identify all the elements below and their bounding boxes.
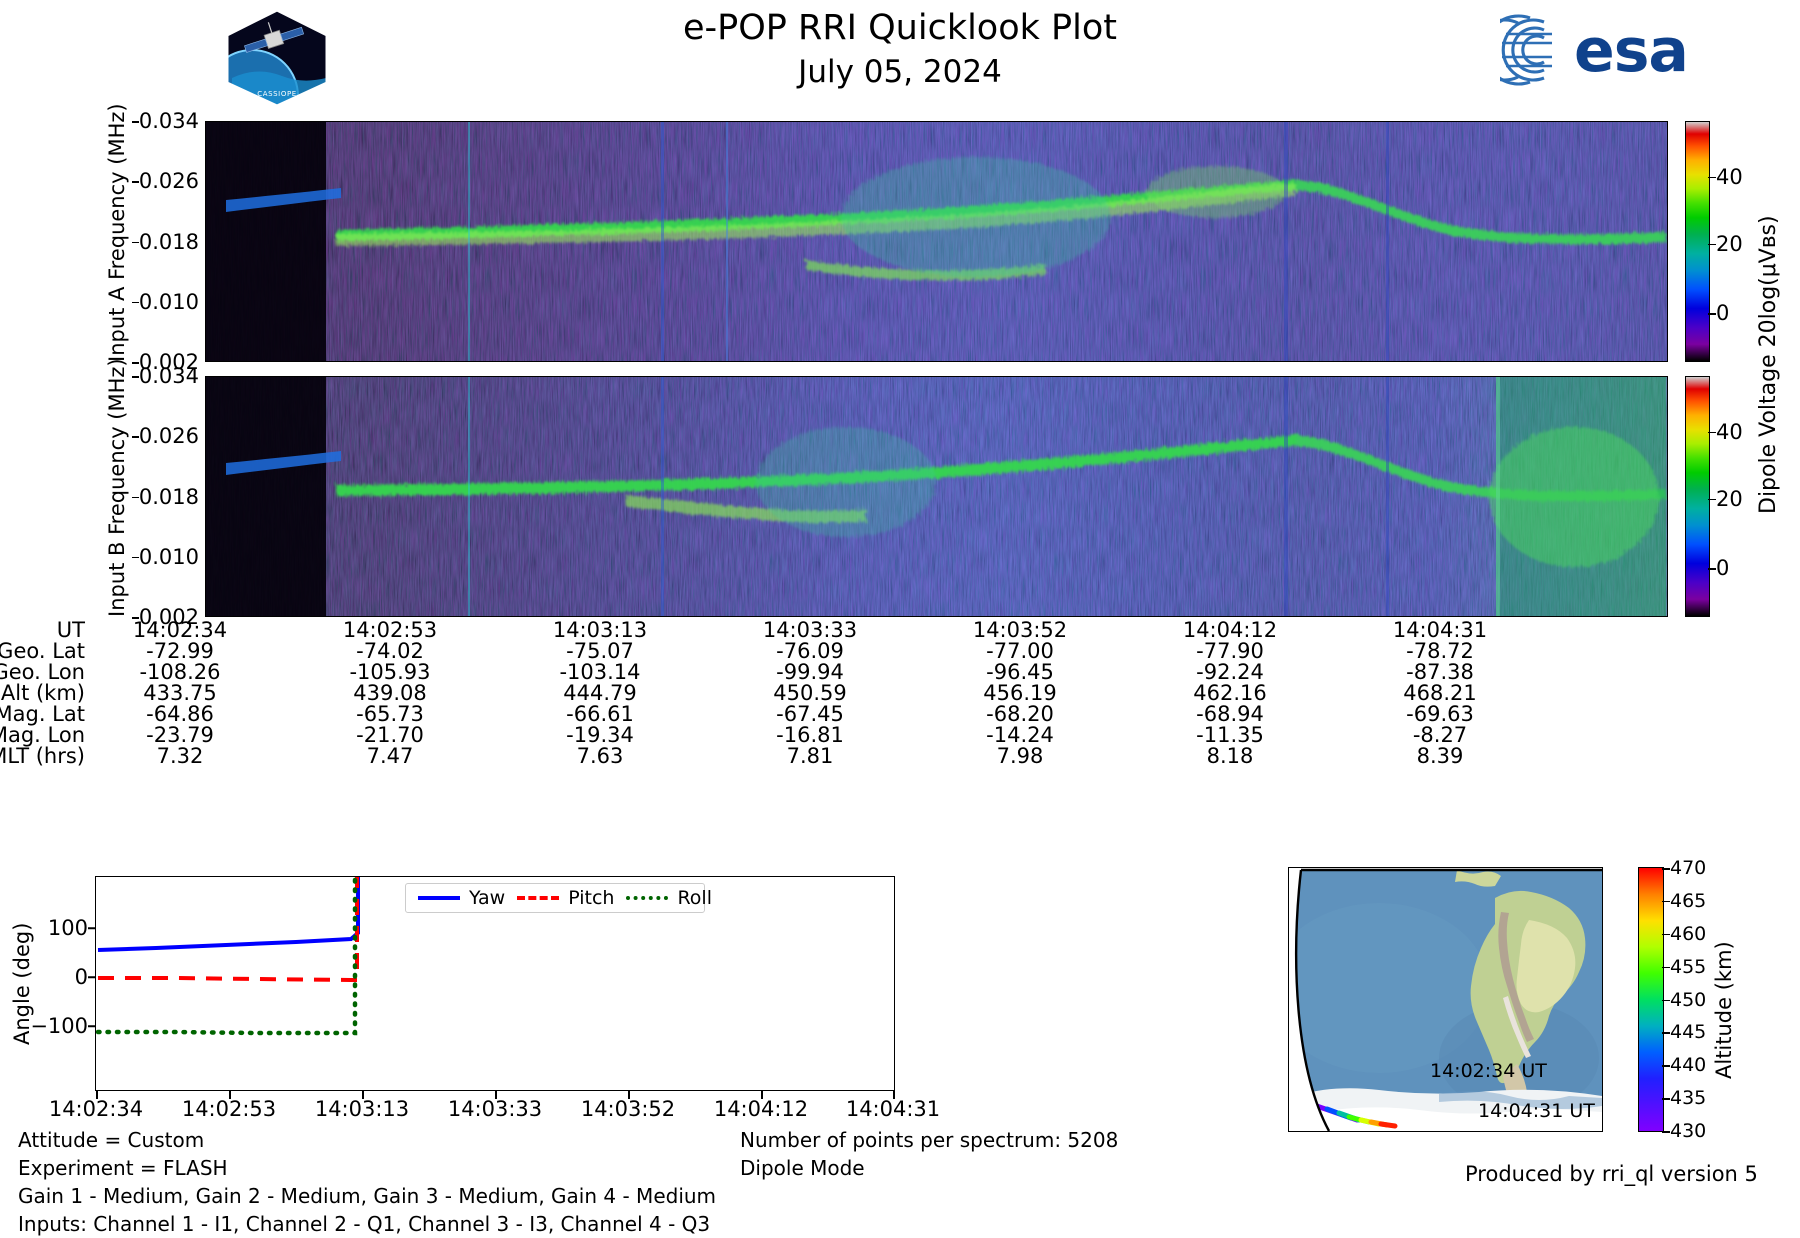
ephem-ut-2: 14:03:13 <box>515 620 685 641</box>
altitude-tick-465: 465 <box>1670 890 1706 912</box>
spectrogram-b-plot[interactable] <box>205 376 1668 617</box>
ephem-maglat-6: -69.63 <box>1355 704 1525 725</box>
ephem-maglon-4: -14.24 <box>935 725 1105 746</box>
table-row: Geo. Lon -108.26 -105.93 -103.14 -99.94 … <box>0 662 1800 683</box>
spectrogram-a-plot[interactable] <box>205 121 1668 362</box>
ytick-a-0: 0.034 <box>139 109 199 133</box>
ephem-ut-5: 14:04:12 <box>1145 620 1315 641</box>
cassiope-logo-text: CASSIOPE <box>257 90 297 98</box>
ephem-alt-5: 462.16 <box>1145 683 1315 704</box>
altitude-tick-470: 470 <box>1670 857 1706 879</box>
altitude-tick-435: 435 <box>1670 1087 1706 1109</box>
altitude-colorbar-label: Altitude (km) <box>1712 910 1738 1110</box>
colorbar-b-tick-20: 20 <box>1716 487 1743 511</box>
ephem-label-geolon: Geo. Lon <box>0 662 85 683</box>
ephem-geolon-6: -87.38 <box>1355 662 1525 683</box>
altitude-tick-430: 430 <box>1670 1120 1706 1142</box>
ephem-alt-2: 444.79 <box>515 683 685 704</box>
ephem-geolat-4: -77.00 <box>935 641 1105 662</box>
legend-item-yaw: Yaw <box>418 887 505 909</box>
ephem-label-ut: UT <box>0 620 85 641</box>
ephem-geolon-5: -92.24 <box>1145 662 1315 683</box>
ytick-b-0: 0.034 <box>139 364 199 388</box>
ytick-a-2: 0.018 <box>139 230 199 254</box>
ephem-mlt-2: 7.63 <box>515 746 685 767</box>
altitude-tick-460: 460 <box>1670 923 1706 945</box>
ephem-label-maglat: Mag. Lat <box>0 704 85 725</box>
ephem-alt-0: 433.75 <box>95 683 265 704</box>
ephem-mlt-3: 7.81 <box>725 746 895 767</box>
ephem-maglon-2: -19.34 <box>515 725 685 746</box>
ephem-label-mlt: MLT (hrs) <box>0 746 85 767</box>
metadata-dipole-mode: Dipole Mode <box>740 1154 1118 1182</box>
ytick-b-3: 0.010 <box>139 545 199 569</box>
colorbar-a-tick-40: 40 <box>1716 165 1743 189</box>
ephem-ut-1: 14:02:53 <box>305 620 475 641</box>
colorbar-label: Dipole Voltage 20log(μVʙs) <box>1756 200 1784 530</box>
altitude-tick-445: 445 <box>1670 1021 1706 1043</box>
legend-item-pitch: Pitch <box>517 887 614 909</box>
ephem-mlt-1: 7.47 <box>305 746 475 767</box>
ephem-alt-3: 450.59 <box>725 683 895 704</box>
spectrogram-b-ylabel: Input B Frequency (MHz) <box>105 376 131 617</box>
table-row: Mag. Lon -23.79 -21.70 -19.34 -16.81 -14… <box>0 725 1800 746</box>
ephem-geolat-3: -76.09 <box>725 641 895 662</box>
ephem-maglon-3: -16.81 <box>725 725 895 746</box>
ephem-alt-6: 468.21 <box>1355 683 1525 704</box>
table-row: MLT (hrs) 7.32 7.47 7.63 7.81 7.98 8.18 … <box>0 746 1800 767</box>
ephem-mlt-0: 7.32 <box>95 746 265 767</box>
legend-label-roll: Roll <box>677 887 712 909</box>
ephem-geolon-4: -96.45 <box>935 662 1105 683</box>
attitude-legend: Yaw Pitch Roll <box>405 883 705 913</box>
spectrogram-b-yaxis: 0.034 0.026 0.018 0.010 0.002 <box>137 376 199 617</box>
ephem-alt-4: 456.19 <box>935 683 1105 704</box>
ephem-maglon-6: -8.27 <box>1355 725 1525 746</box>
ephem-geolat-1: -74.02 <box>305 641 475 662</box>
metadata-points-per-spectrum: Number of points per spectrum: 5208 <box>740 1126 1118 1154</box>
map-end-time-label: 14:04:31 UT <box>1478 1100 1595 1122</box>
ephemeris-table: UT 14:02:34 14:02:53 14:03:13 14:03:33 1… <box>0 620 1800 767</box>
ephem-maglat-0: -64.86 <box>95 704 265 725</box>
ephem-ut-4: 14:03:52 <box>935 620 1105 641</box>
ephem-alt-1: 439.08 <box>305 683 475 704</box>
metadata-mid-block: Number of points per spectrum: 5208 Dipo… <box>740 1126 1118 1182</box>
altitude-tick-440: 440 <box>1670 1054 1706 1076</box>
ephem-label-alt: Alt (km) <box>0 683 85 704</box>
legend-line-pitch-icon <box>517 896 559 900</box>
colorbar-b-tick-0: 0 <box>1716 556 1729 580</box>
esa-logo-icon: esa <box>1500 14 1730 86</box>
ephem-geolon-1: -105.93 <box>305 662 475 683</box>
legend-line-roll-icon <box>626 896 668 900</box>
ephem-geolat-2: -75.07 <box>515 641 685 662</box>
ephem-mlt-5: 8.18 <box>1145 746 1315 767</box>
metadata-experiment: Experiment = FLASH <box>18 1154 716 1182</box>
ephem-geolon-0: -108.26 <box>95 662 265 683</box>
altitude-tick-450: 450 <box>1670 989 1706 1011</box>
legend-label-pitch: Pitch <box>568 887 614 909</box>
ephem-ut-3: 14:03:33 <box>725 620 895 641</box>
colorbar-a-tick-20: 20 <box>1716 232 1743 256</box>
metadata-inputs: Inputs: Channel 1 - I1, Channel 2 - Q1, … <box>18 1210 716 1238</box>
ground-track-map[interactable] <box>1288 867 1603 1132</box>
ephem-geolon-2: -103.14 <box>515 662 685 683</box>
map-start-time-label: 14:02:34 UT <box>1430 1060 1547 1082</box>
ephem-geolat-0: -72.99 <box>95 641 265 662</box>
ephem-geolat-5: -77.90 <box>1145 641 1315 662</box>
altitude-colorbar: 470 465 460 455 450 445 440 435 430 <box>1638 867 1664 1132</box>
metadata-gains: Gain 1 - Medium, Gain 2 - Medium, Gain 3… <box>18 1182 716 1210</box>
ephem-maglat-5: -68.94 <box>1145 704 1315 725</box>
metadata-left-block: Attitude = Custom Experiment = FLASH Gai… <box>18 1126 716 1238</box>
spectrogram-a-yaxis: 0.034 0.026 0.018 0.010 0.002 <box>137 121 199 362</box>
altitude-tick-455: 455 <box>1670 956 1706 978</box>
ephem-maglon-5: -11.35 <box>1145 725 1315 746</box>
ytick-b-2: 0.018 <box>139 485 199 509</box>
ephem-geolat-6: -78.72 <box>1355 641 1525 662</box>
ephem-maglat-2: -66.61 <box>515 704 685 725</box>
ephem-mlt-4: 7.98 <box>935 746 1105 767</box>
attitude-xtick-6: 14:04:31 <box>813 1097 973 1121</box>
colorbar-b: 40 20 0 <box>1685 376 1710 617</box>
table-row: Geo. Lat -72.99 -74.02 -75.07 -76.09 -77… <box>0 641 1800 662</box>
cassiope-logo-icon: CASSIOPE <box>222 8 332 108</box>
attitude-ytick-0: 0 <box>18 965 88 989</box>
legend-label-yaw: Yaw <box>469 887 505 909</box>
attitude-ytick-neg100: −100 <box>18 1014 88 1038</box>
legend-item-roll: Roll <box>626 887 712 909</box>
ephem-geolon-3: -99.94 <box>725 662 895 683</box>
ytick-a-1: 0.026 <box>139 169 199 193</box>
colorbar-a-tick-0: 0 <box>1716 301 1729 325</box>
colorbar-b-tick-40: 40 <box>1716 420 1743 444</box>
ephem-mlt-6: 8.39 <box>1355 746 1525 767</box>
metadata-attitude: Attitude = Custom <box>18 1126 716 1154</box>
table-row: UT 14:02:34 14:02:53 14:03:13 14:03:33 1… <box>0 620 1800 641</box>
ephem-maglat-4: -68.20 <box>935 704 1105 725</box>
ephem-maglat-1: -65.73 <box>305 704 475 725</box>
svg-text:esa: esa <box>1574 16 1688 86</box>
ephem-maglon-1: -21.70 <box>305 725 475 746</box>
spectrogram-a-ylabel: Input A Frequency (MHz) <box>105 121 131 362</box>
attitude-ytick-100: 100 <box>18 916 88 940</box>
table-row: Alt (km) 433.75 439.08 444.79 450.59 456… <box>0 683 1800 704</box>
colorbar-a: 40 20 0 <box>1685 121 1710 362</box>
ephem-maglat-3: -67.45 <box>725 704 895 725</box>
ephem-maglon-0: -23.79 <box>95 725 265 746</box>
ephem-ut-6: 14:04:31 <box>1355 620 1525 641</box>
ephem-label-geolat: Geo. Lat <box>0 641 85 662</box>
ytick-a-3: 0.010 <box>139 290 199 314</box>
ytick-b-1: 0.026 <box>139 424 199 448</box>
ephem-ut-0: 14:02:34 <box>95 620 265 641</box>
table-row: Mag. Lat -64.86 -65.73 -66.61 -67.45 -68… <box>0 704 1800 725</box>
ephem-label-maglon: Mag. Lon <box>0 725 85 746</box>
legend-line-yaw-icon <box>418 896 460 900</box>
produced-by-label: Produced by rri_ql version 5 <box>1465 1162 1758 1186</box>
